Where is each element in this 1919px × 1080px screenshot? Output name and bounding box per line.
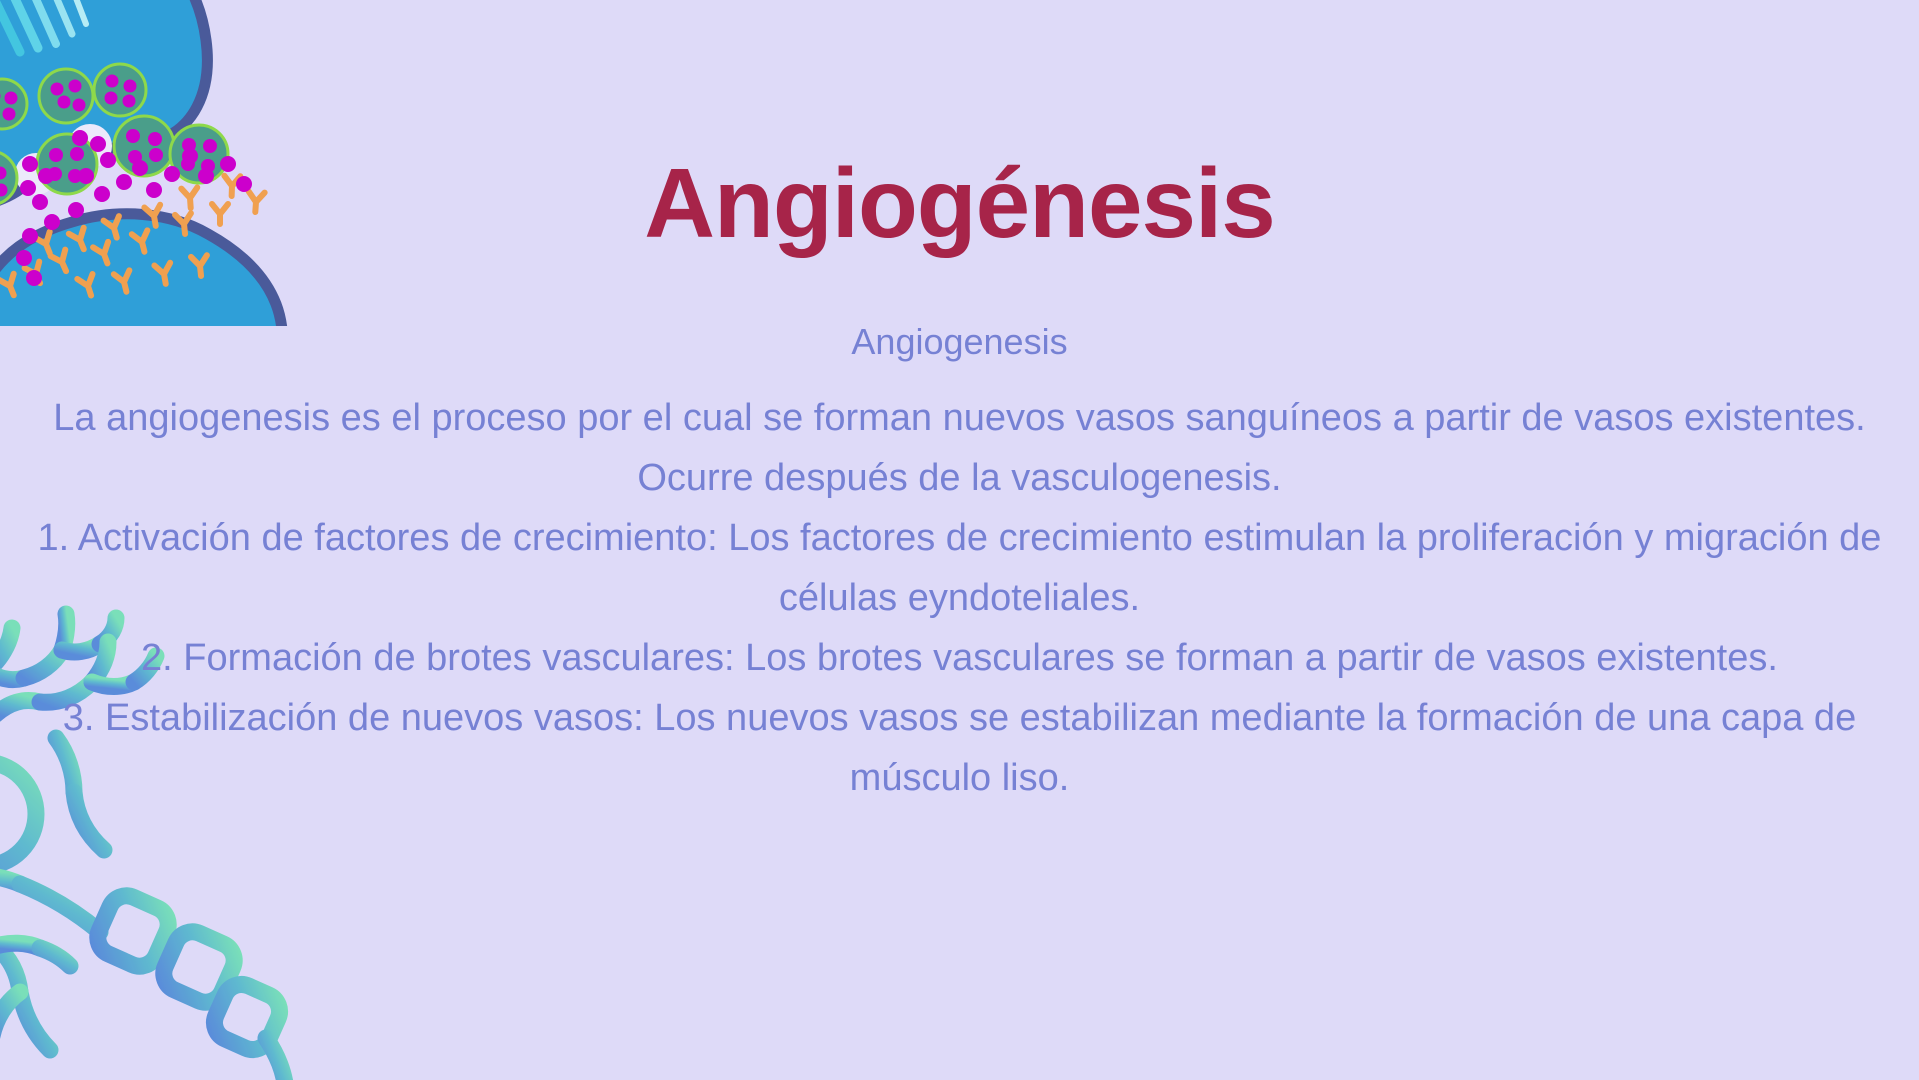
body-paragraph-step-1: 1. Activación de factores de crecimiento…: [0, 508, 1919, 628]
body-text-block: La angiogenesis es el proceso por el cua…: [0, 388, 1919, 808]
body-paragraph-step-2: 2. Formación de brotes vasculares: Los b…: [0, 628, 1919, 688]
subtitle: Angiogenesis: [0, 320, 1919, 363]
body-paragraph-step-3: 3. Estabilización de nuevos vasos: Los n…: [0, 688, 1919, 808]
slide-canvas: Angiogénesis Angiogenesis La angiogenesi…: [0, 0, 1919, 1080]
page-title: Angiogénesis: [0, 152, 1919, 255]
body-paragraph-intro: La angiogenesis es el proceso por el cua…: [0, 388, 1919, 508]
slide-text-content: Angiogénesis Angiogenesis La angiogenesi…: [0, 0, 1919, 1080]
